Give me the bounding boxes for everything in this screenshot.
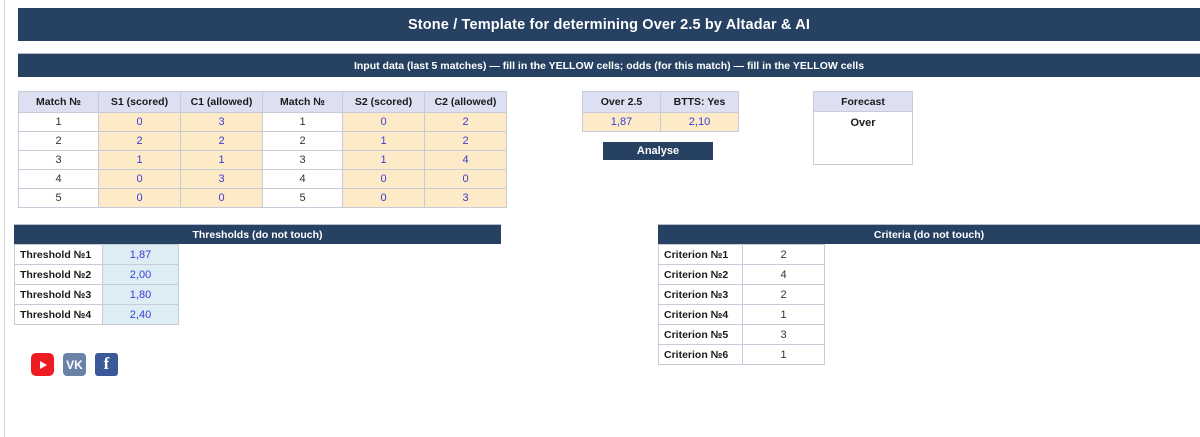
threshold-value: 1,87 [103,245,179,265]
table-row: Criterion №4 1 [659,305,825,325]
play-triangle-icon [40,361,47,369]
cell-match-number: 4 [19,170,99,189]
table-row: Criterion №3 2 [659,285,825,305]
cell-match-number: 4 [263,170,343,189]
criterion-label: Criterion №5 [659,325,743,345]
criterion-value: 2 [743,285,825,305]
cell-s1-input[interactable]: 1 [99,151,181,170]
column-header-btts: BTTS: Yes [661,92,739,113]
cell-match-number: 1 [263,113,343,132]
cell-c2-input[interactable]: 0 [425,170,507,189]
cell-c1-input[interactable]: 2 [181,132,263,151]
social-links: VK f [31,353,118,376]
cell-match-number: 2 [19,132,99,151]
table-row: Criterion №2 4 [659,265,825,285]
table-row: Criterion №6 1 [659,345,825,365]
forecast-panel-header: Forecast [814,92,912,112]
sheet-gutter-line [4,0,5,437]
column-header-s2: S2 (scored) [343,92,425,113]
youtube-icon[interactable] [31,353,54,376]
criterion-label: Criterion №4 [659,305,743,325]
facebook-icon-label: f [104,355,110,372]
threshold-label: Threshold №3 [15,285,103,305]
column-header-over25: Over 2.5 [583,92,661,113]
criterion-label: Criterion №3 [659,285,743,305]
cell-s2-input[interactable]: 0 [343,170,425,189]
criterion-value: 1 [743,345,825,365]
page-title: Stone / Template for determining Over 2.… [18,8,1200,41]
thresholds-table: Threshold №1 1,87 Threshold №2 2,00 Thre… [14,244,179,325]
criteria-table: Criterion №1 2 Criterion №2 4 Criterion … [658,244,825,365]
criterion-value: 4 [743,265,825,285]
cell-s2-input[interactable]: 0 [343,189,425,208]
column-header-c1: C1 (allowed) [181,92,263,113]
table-row: Threshold №4 2,40 [15,305,179,325]
forecast-panel: Forecast Over [813,91,913,165]
column-header-match1: Match № [19,92,99,113]
threshold-value: 1,80 [103,285,179,305]
cell-s2-input[interactable]: 0 [343,113,425,132]
cell-match-number: 1 [19,113,99,132]
odds-input-table[interactable]: Over 2.5 BTTS: Yes 1,87 2,10 [582,91,739,132]
cell-match-number: 3 [19,151,99,170]
cell-c2-input[interactable]: 2 [425,113,507,132]
criterion-value: 1 [743,305,825,325]
criteria-section-title: Criteria (do not touch) [658,224,1200,244]
cell-s1-input[interactable]: 0 [99,113,181,132]
table-row: 1,87 2,10 [583,113,739,132]
column-header-c2: C2 (allowed) [425,92,507,113]
criterion-label: Criterion №2 [659,265,743,285]
cell-s1-input[interactable]: 2 [99,132,181,151]
table-row: Criterion №1 2 [659,245,825,265]
cell-btts-odds-input[interactable]: 2,10 [661,113,739,132]
cell-s2-input[interactable]: 1 [343,151,425,170]
table-row: Threshold №3 1,80 [15,285,179,305]
forecast-result-value: Over [814,112,912,133]
cell-match-number: 5 [263,189,343,208]
criterion-value: 2 [743,245,825,265]
criterion-value: 3 [743,325,825,345]
cell-c2-input[interactable]: 2 [425,132,507,151]
table-row: Threshold №2 2,00 [15,265,179,285]
matches-input-table[interactable]: Match № S1 (scored) C1 (allowed) Match №… [18,91,507,208]
threshold-value: 2,40 [103,305,179,325]
criterion-label: Criterion №6 [659,345,743,365]
cell-s1-input[interactable]: 0 [99,189,181,208]
table-row: 5 0 0 5 0 3 [19,189,507,208]
cell-c2-input[interactable]: 4 [425,151,507,170]
table-row: 4 0 3 4 0 0 [19,170,507,189]
criterion-label: Criterion №1 [659,245,743,265]
threshold-value: 2,00 [103,265,179,285]
table-row: Threshold №1 1,87 [15,245,179,265]
cell-c2-input[interactable]: 3 [425,189,507,208]
table-row: 1 0 3 1 0 2 [19,113,507,132]
table-row: 3 1 1 3 1 4 [19,151,507,170]
facebook-icon[interactable]: f [95,353,118,376]
cell-match-number: 5 [19,189,99,208]
table-header-row: Over 2.5 BTTS: Yes [583,92,739,113]
cell-over25-odds-input[interactable]: 1,87 [583,113,661,132]
cell-match-number: 3 [263,151,343,170]
analyse-button[interactable]: Analyse [603,142,713,160]
table-row: 2 2 2 2 1 2 [19,132,507,151]
table-header-row: Match № S1 (scored) C1 (allowed) Match №… [19,92,507,113]
threshold-label: Threshold №1 [15,245,103,265]
instructions-banner: Input data (last 5 matches) — fill in th… [18,53,1200,77]
cell-s2-input[interactable]: 1 [343,132,425,151]
cell-match-number: 2 [263,132,343,151]
cell-c1-input[interactable]: 3 [181,170,263,189]
vk-icon-label: VK [66,358,83,372]
cell-s1-input[interactable]: 0 [99,170,181,189]
column-header-s1: S1 (scored) [99,92,181,113]
threshold-label: Threshold №4 [15,305,103,325]
thresholds-section-title: Thresholds (do not touch) [14,224,501,244]
cell-c1-input[interactable]: 3 [181,113,263,132]
table-row: Criterion №5 3 [659,325,825,345]
column-header-match2: Match № [263,92,343,113]
vk-icon[interactable]: VK [63,353,86,376]
cell-c1-input[interactable]: 1 [181,151,263,170]
threshold-label: Threshold №2 [15,265,103,285]
cell-c1-input[interactable]: 0 [181,189,263,208]
